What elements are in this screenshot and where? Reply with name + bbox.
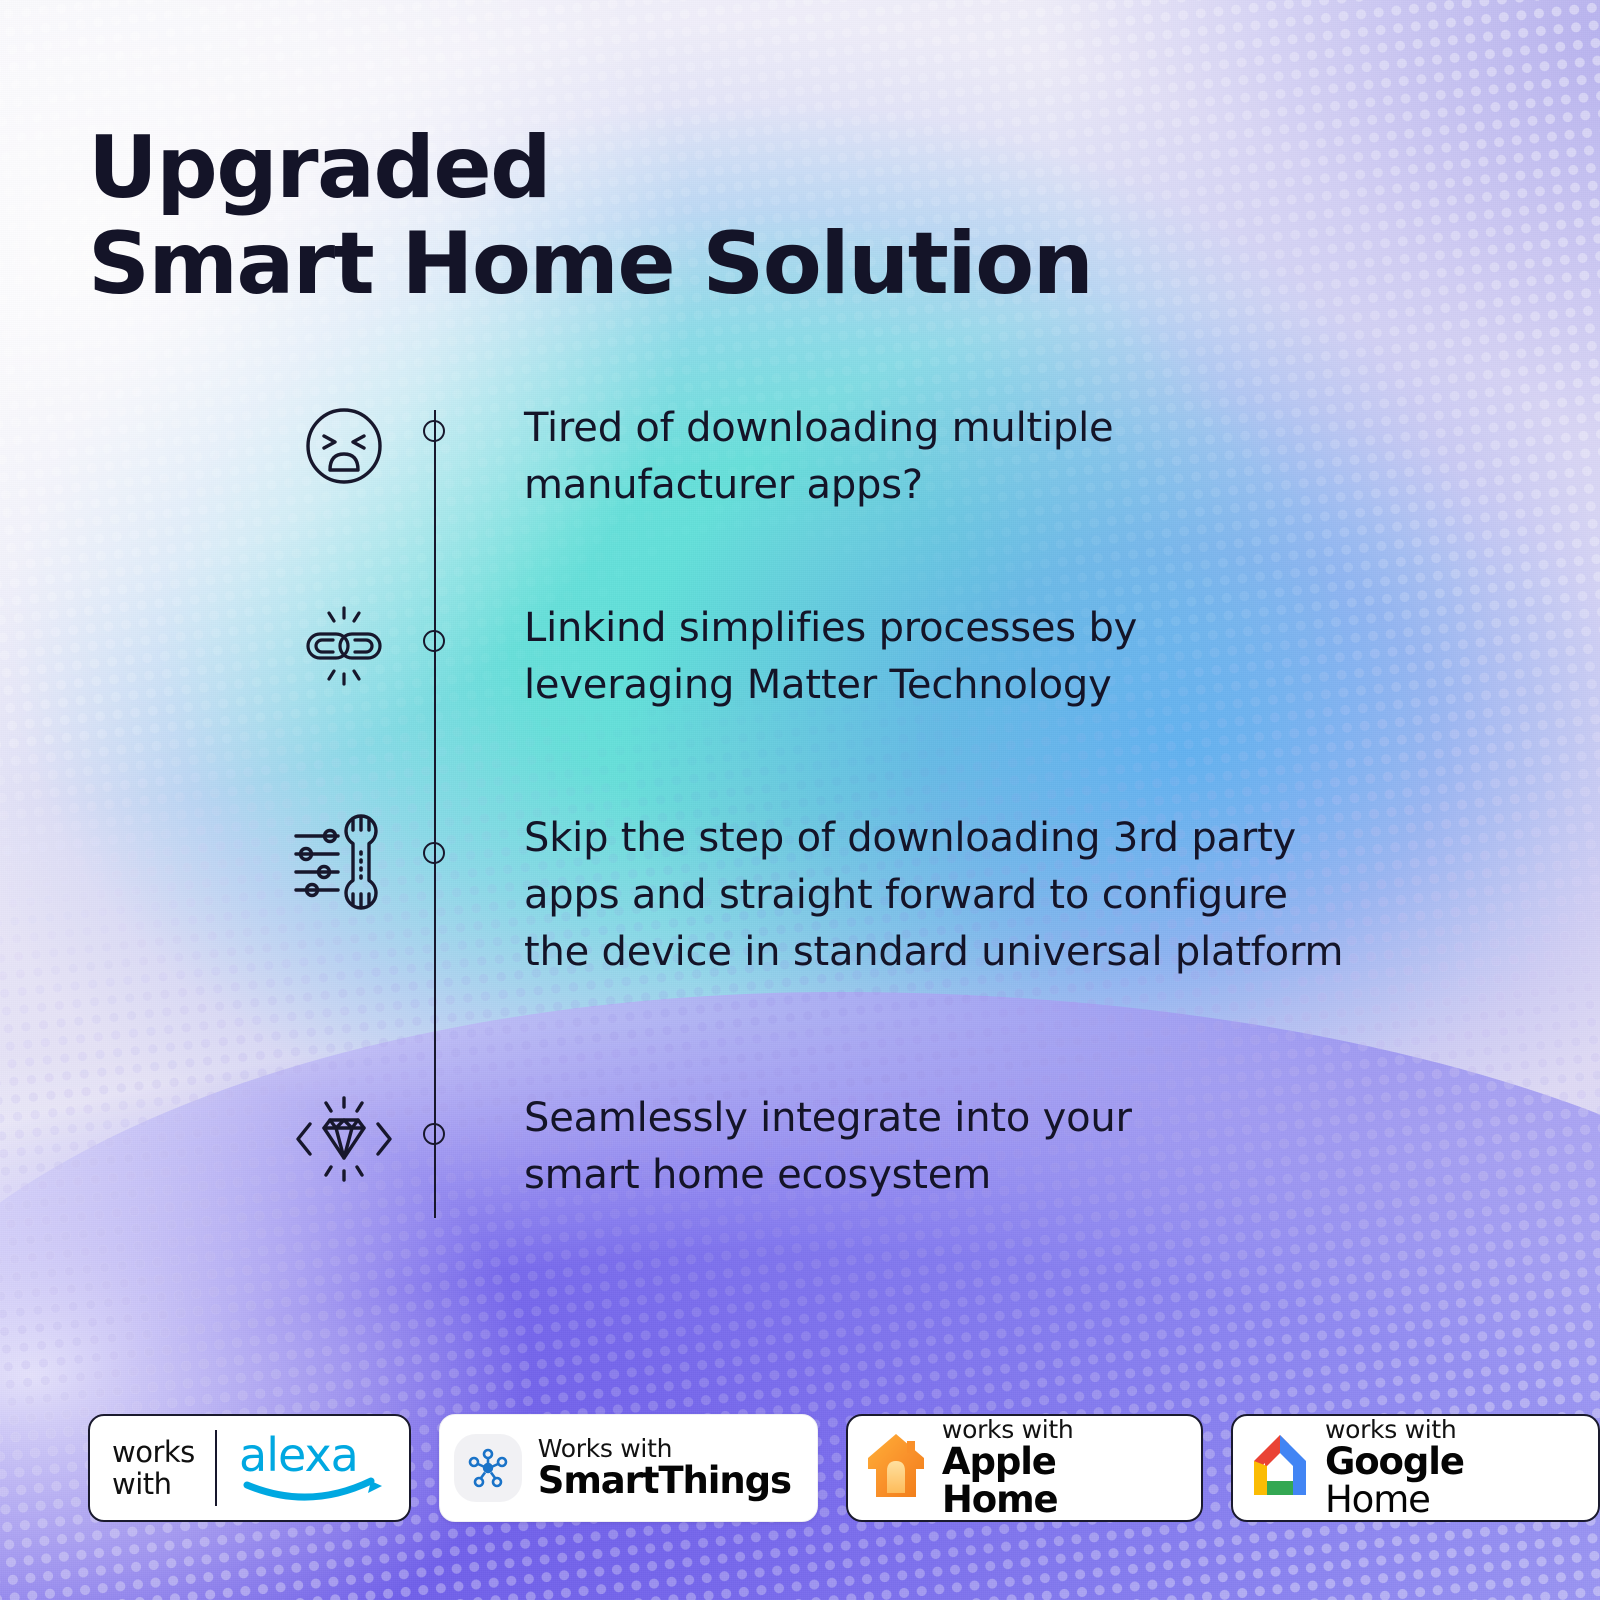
- list-item: Tired of downloading multiple manufactur…: [286, 400, 1113, 514]
- list-item: Skip the step of downloading 3rd party a…: [286, 810, 1343, 980]
- apple-home-text: works with Apple Home: [942, 1417, 1179, 1520]
- broken-chain-link-icon: [286, 600, 402, 692]
- poster-canvas: Upgraded Smart Home Solution Tired of do…: [0, 0, 1600, 1600]
- page-title: Upgraded Smart Home Solution: [88, 120, 1092, 313]
- google-home-text: works with Google Home: [1325, 1417, 1576, 1520]
- list-item-label: Linkind simplifies processes by leveragi…: [524, 600, 1137, 714]
- alexa-works-with-text: works with: [112, 1436, 215, 1501]
- badge-works-with-google-home[interactable]: works with Google Home: [1231, 1414, 1600, 1522]
- apple-home-house-icon: [864, 1431, 928, 1506]
- smartthings-works-with-label: Works with: [538, 1436, 791, 1462]
- list-item-label: Skip the step of downloading 3rd party a…: [524, 810, 1343, 980]
- list-item: Seamlessly integrate into your smart hom…: [286, 1090, 1132, 1204]
- compatibility-badges: works with alexa: [88, 1414, 1600, 1522]
- svg-text:alexa: alexa: [239, 1429, 358, 1482]
- smartthings-text: Works with SmartThings: [538, 1436, 791, 1500]
- list-item-label: Tired of downloading multiple manufactur…: [524, 400, 1113, 514]
- sparkling-diamond-icon: [286, 1090, 402, 1188]
- badge-works-with-alexa[interactable]: works with alexa: [88, 1414, 411, 1522]
- alexa-logo: alexa: [217, 1429, 387, 1508]
- badge-works-with-apple-home[interactable]: works with Apple Home: [846, 1414, 1203, 1522]
- frustrated-face-icon: [286, 400, 402, 492]
- google-home-brand-label: Google Home: [1325, 1443, 1576, 1520]
- alexa-with-label: with: [112, 1468, 195, 1500]
- google-home-house-icon: [1249, 1433, 1311, 1504]
- badge-works-with-smartthings[interactable]: Works with SmartThings: [439, 1414, 818, 1522]
- apple-home-brand-bold: Apple: [942, 1440, 1056, 1483]
- google-home-brand-light: Home: [1325, 1478, 1430, 1521]
- google-home-brand-bold: Google: [1325, 1440, 1464, 1483]
- alexa-works-label: works: [112, 1436, 195, 1468]
- smartthings-logo-icon: [454, 1434, 522, 1502]
- alexa-wordmark-icon: alexa: [237, 1429, 387, 1503]
- apple-home-brand-label: Apple Home: [942, 1443, 1179, 1520]
- list-item: Linkind simplifies processes by leveragi…: [286, 600, 1137, 714]
- list-item-label: Seamlessly integrate into your smart hom…: [524, 1090, 1132, 1204]
- apple-home-brand-light: Home: [942, 1478, 1058, 1521]
- wrench-settings-icon: [286, 810, 402, 914]
- smartthings-brand-label: SmartThings: [538, 1462, 791, 1500]
